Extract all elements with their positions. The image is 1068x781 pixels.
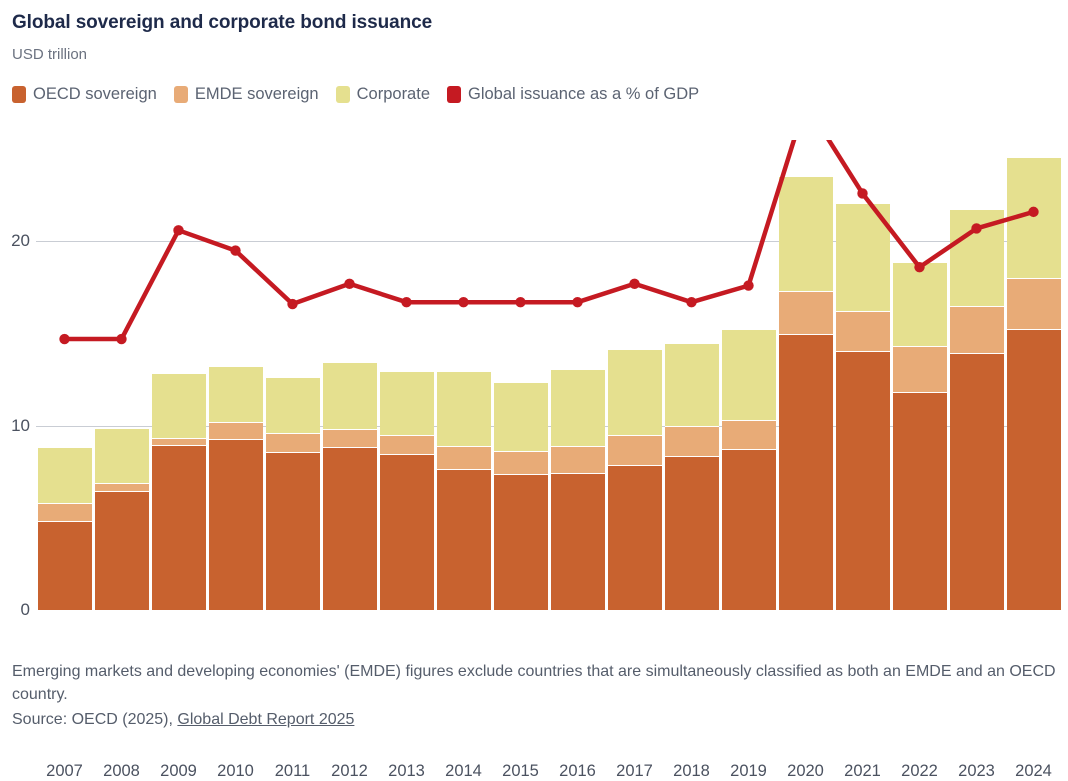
bar-segment-emde-sovereign[interactable]	[551, 447, 605, 474]
legend-item[interactable]: OECD sovereign	[12, 85, 157, 104]
bar-group[interactable]	[606, 140, 663, 610]
bar-group[interactable]	[207, 140, 264, 610]
legend-item[interactable]: Corporate	[336, 85, 430, 104]
bar-segment-corporate[interactable]	[152, 374, 206, 440]
bar-segment-oecd-sovereign[interactable]	[893, 393, 947, 610]
bar-group[interactable]	[663, 140, 720, 610]
bar-group[interactable]	[264, 140, 321, 610]
y-axis-tick-label: 0	[0, 600, 30, 620]
legend-item-label: Global issuance as a % of GDP	[468, 85, 699, 104]
bar-segment-oecd-sovereign[interactable]	[779, 335, 833, 610]
source-link[interactable]: Global Debt Report 2025	[177, 711, 354, 728]
chart-footnote: Emerging markets and developing economie…	[12, 660, 1060, 732]
y-axis-tick-label: 20	[0, 231, 30, 251]
bar-segment-corporate[interactable]	[95, 429, 149, 483]
stacked-bar[interactable]	[95, 429, 149, 610]
stacked-bar[interactable]	[152, 374, 206, 610]
bar-segment-oecd-sovereign[interactable]	[1007, 330, 1061, 610]
bar-segment-oecd-sovereign[interactable]	[608, 466, 662, 610]
x-axis-tick-label: 2023	[948, 762, 1005, 781]
bar-group[interactable]	[1005, 140, 1062, 610]
page-title: Global sovereign and corporate bond issu…	[12, 12, 432, 34]
x-axis-tick-label: 2015	[492, 762, 549, 781]
x-axis: 2007200820092010201120122013201420152016…	[36, 762, 1062, 781]
bar-group[interactable]	[549, 140, 606, 610]
bar-segment-oecd-sovereign[interactable]	[665, 457, 719, 610]
bar-group[interactable]	[492, 140, 549, 610]
stacked-bar[interactable]	[722, 330, 776, 610]
bar-segment-corporate[interactable]	[836, 204, 890, 312]
bar-segment-corporate[interactable]	[608, 350, 662, 436]
bar-segment-emde-sovereign[interactable]	[836, 312, 890, 352]
chart-page: Global sovereign and corporate bond issu…	[0, 0, 1068, 752]
x-axis-tick-label: 2010	[207, 762, 264, 781]
bar-segment-oecd-sovereign[interactable]	[152, 446, 206, 610]
bar-segment-emde-sovereign[interactable]	[437, 447, 491, 470]
stacked-bar[interactable]	[893, 263, 947, 610]
stacked-bar[interactable]	[38, 448, 92, 610]
bar-segment-emde-sovereign[interactable]	[722, 421, 776, 450]
bar-segment-oecd-sovereign[interactable]	[722, 450, 776, 610]
x-axis-tick-label: 2013	[378, 762, 435, 781]
bar-segment-oecd-sovereign[interactable]	[950, 354, 1004, 610]
bar-segment-emde-sovereign[interactable]	[608, 436, 662, 466]
bar-segment-emde-sovereign[interactable]	[38, 504, 92, 522]
legend-swatch-emde	[174, 86, 188, 103]
x-axis-tick-label: 2012	[321, 762, 378, 781]
stacked-bar[interactable]	[266, 378, 320, 610]
x-axis-tick-label: 2007	[36, 762, 93, 781]
bars-layer	[36, 140, 1062, 610]
stacked-bar[interactable]	[836, 204, 890, 610]
bar-group[interactable]	[777, 140, 834, 610]
stacked-bar[interactable]	[437, 372, 491, 610]
bar-segment-corporate[interactable]	[494, 383, 548, 452]
bar-segment-emde-sovereign[interactable]	[950, 307, 1004, 354]
bar-segment-corporate[interactable]	[437, 372, 491, 447]
bar-segment-emde-sovereign[interactable]	[665, 427, 719, 457]
legend-item[interactable]: Global issuance as a % of GDP	[447, 85, 699, 104]
stacked-bar[interactable]	[551, 370, 605, 610]
bar-segment-corporate[interactable]	[38, 448, 92, 504]
x-axis-tick-label: 2009	[150, 762, 207, 781]
bar-group[interactable]	[93, 140, 150, 610]
bar-segment-oecd-sovereign[interactable]	[551, 474, 605, 610]
x-axis-tick-label: 2018	[663, 762, 720, 781]
bar-segment-oecd-sovereign[interactable]	[380, 455, 434, 610]
x-axis-tick-label: 2022	[891, 762, 948, 781]
bar-group[interactable]	[150, 140, 207, 610]
source-prefix: Source: OECD (2025),	[12, 711, 177, 728]
x-axis-tick-label: 2014	[435, 762, 492, 781]
bar-segment-emde-sovereign[interactable]	[209, 423, 263, 441]
bar-segment-corporate[interactable]	[380, 372, 434, 436]
bar-group[interactable]	[321, 140, 378, 610]
bar-segment-oecd-sovereign[interactable]	[836, 352, 890, 610]
x-axis-tick-label: 2008	[93, 762, 150, 781]
bar-segment-corporate[interactable]	[209, 367, 263, 423]
bar-segment-emde-sovereign[interactable]	[1007, 279, 1061, 330]
stacked-bar[interactable]	[779, 177, 833, 610]
bar-segment-corporate[interactable]	[722, 330, 776, 421]
plot-area: 01020 2007200820092010201120122013201420…	[0, 140, 1068, 620]
x-axis-tick-label: 2016	[549, 762, 606, 781]
bar-segment-oecd-sovereign[interactable]	[437, 470, 491, 610]
stacked-bar[interactable]	[950, 210, 1004, 610]
footnote-note: Emerging markets and developing economie…	[12, 660, 1060, 706]
bar-group[interactable]	[435, 140, 492, 610]
legend-item-label: OECD sovereign	[33, 85, 157, 104]
x-axis-tick-label: 2011	[264, 762, 321, 781]
stacked-bar[interactable]	[608, 350, 662, 610]
bar-segment-emde-sovereign[interactable]	[266, 434, 320, 453]
bar-segment-emde-sovereign[interactable]	[95, 484, 149, 492]
bar-group[interactable]	[720, 140, 777, 610]
bar-segment-emde-sovereign[interactable]	[323, 430, 377, 448]
bar-segment-emde-sovereign[interactable]	[494, 452, 548, 475]
stacked-bar[interactable]	[323, 363, 377, 610]
stacked-bar[interactable]	[380, 372, 434, 610]
stacked-bar[interactable]	[494, 383, 548, 610]
bar-segment-emde-sovereign[interactable]	[380, 436, 434, 455]
bar-group[interactable]	[834, 140, 891, 610]
x-axis-tick-label: 2024	[1005, 762, 1062, 781]
legend-swatch-corporate	[336, 86, 350, 103]
bar-group[interactable]	[36, 140, 93, 610]
bar-segment-emde-sovereign[interactable]	[893, 347, 947, 392]
chart-legend: OECD sovereignEMDE sovereignCorporateGlo…	[12, 85, 716, 104]
bar-segment-corporate[interactable]	[551, 370, 605, 447]
stacked-bar[interactable]	[1007, 158, 1061, 610]
bar-segment-corporate[interactable]	[950, 210, 1004, 307]
bar-segment-oecd-sovereign[interactable]	[266, 453, 320, 610]
x-axis-tick-label: 2021	[834, 762, 891, 781]
bar-segment-corporate[interactable]	[779, 177, 833, 292]
bar-segment-oecd-sovereign[interactable]	[38, 522, 92, 610]
bar-segment-corporate[interactable]	[665, 344, 719, 426]
legend-item[interactable]: EMDE sovereign	[174, 85, 319, 104]
chart-subtitle: USD trillion	[12, 46, 87, 63]
legend-swatch-gdp	[447, 86, 461, 103]
y-axis-tick-label: 10	[0, 416, 30, 436]
x-axis-tick-label: 2017	[606, 762, 663, 781]
legend-item-label: Corporate	[357, 85, 430, 104]
bar-segment-emde-sovereign[interactable]	[779, 292, 833, 335]
bar-segment-oecd-sovereign[interactable]	[95, 492, 149, 610]
bar-group[interactable]	[891, 140, 948, 610]
bar-segment-corporate[interactable]	[323, 363, 377, 430]
bar-segment-oecd-sovereign[interactable]	[323, 448, 377, 610]
legend-swatch-oecd	[12, 86, 26, 103]
bar-segment-corporate[interactable]	[266, 378, 320, 434]
bar-segment-oecd-sovereign[interactable]	[494, 475, 548, 610]
stacked-bar[interactable]	[209, 367, 263, 610]
bar-segment-corporate[interactable]	[1007, 158, 1061, 279]
legend-item-label: EMDE sovereign	[195, 85, 319, 104]
stacked-bar[interactable]	[665, 344, 719, 610]
bar-group[interactable]	[948, 140, 1005, 610]
bar-group[interactable]	[378, 140, 435, 610]
x-axis-tick-label: 2019	[720, 762, 777, 781]
x-axis-tick-label: 2020	[777, 762, 834, 781]
footnote-source: Source: OECD (2025), Global Debt Report …	[12, 708, 1060, 731]
bar-segment-oecd-sovereign[interactable]	[209, 440, 263, 610]
bar-segment-corporate[interactable]	[893, 263, 947, 347]
